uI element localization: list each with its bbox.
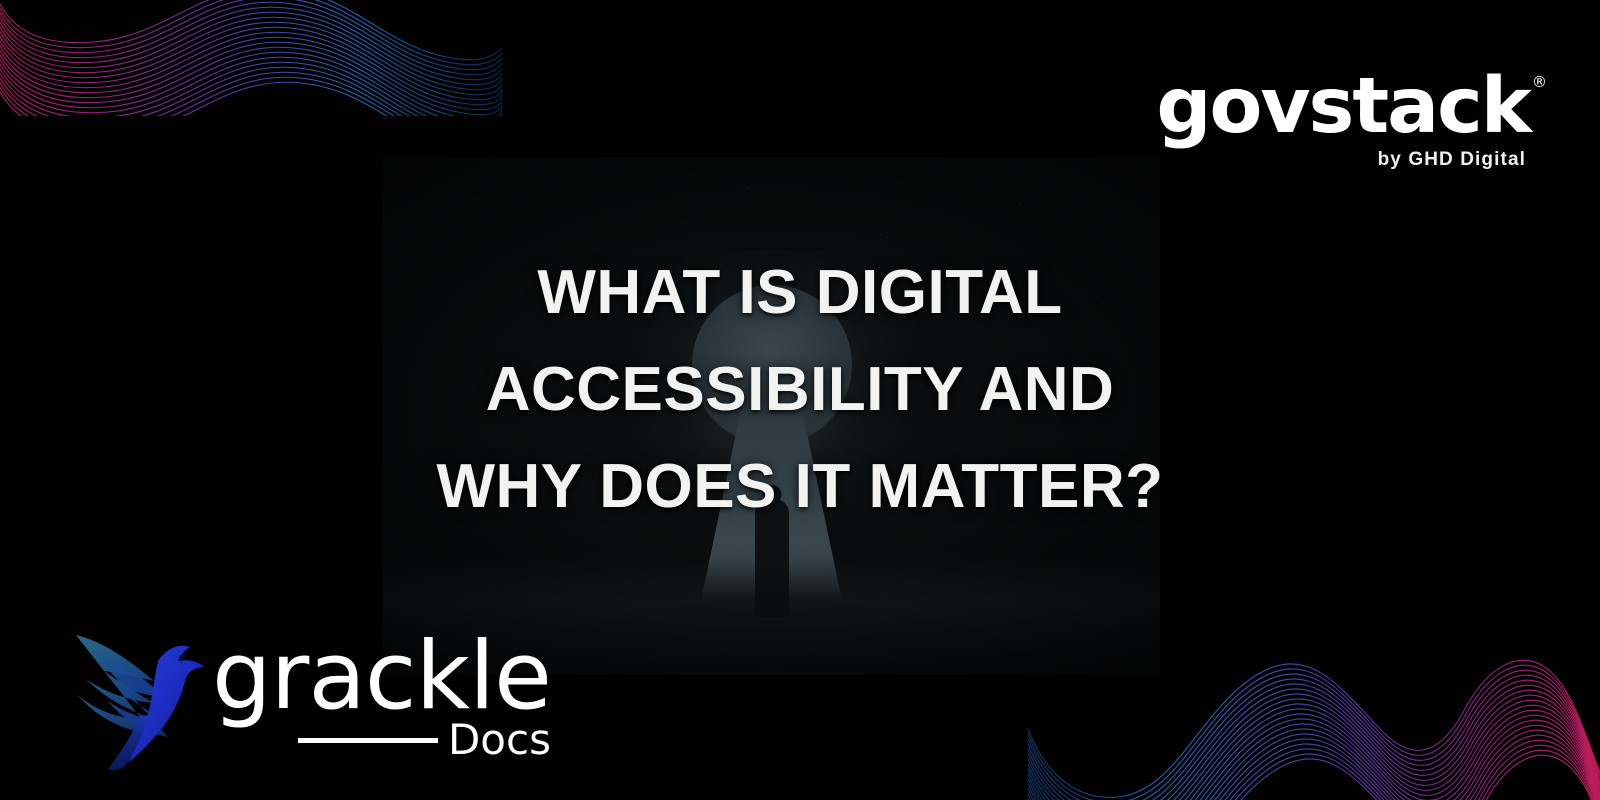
grackle-sub-label: Docs xyxy=(448,719,551,761)
wave-lines-top-left-icon xyxy=(0,0,502,116)
registered-trademark-icon: ® xyxy=(1532,76,1547,90)
govstack-tagline: by GHD Digital xyxy=(1156,149,1526,171)
headline-line-1: WHAT IS DIGITAL xyxy=(0,244,1600,341)
govstack-logo: govstack ® by GHD Digital xyxy=(1156,72,1530,171)
headline-line-3: WHY DOES IT MATTER? xyxy=(0,438,1600,535)
grackle-wordmark: grackle xyxy=(212,638,551,715)
grackle-wordmark-block: grackle Docs xyxy=(212,638,551,765)
govstack-wordmark-text: govstack xyxy=(1156,62,1530,151)
grackle-bird-icon xyxy=(62,621,230,771)
grackle-divider-rule xyxy=(298,738,438,743)
govstack-wordmark: govstack ® xyxy=(1156,72,1530,143)
headline-line-2: ACCESSIBILITY AND xyxy=(0,341,1600,438)
slide-canvas: WHAT IS DIGITAL ACCESSIBILITY AND WHY DO… xyxy=(0,0,1600,800)
grackle-docs-logo: grackle Docs xyxy=(62,621,551,765)
page-title: WHAT IS DIGITAL ACCESSIBILITY AND WHY DO… xyxy=(0,244,1600,535)
